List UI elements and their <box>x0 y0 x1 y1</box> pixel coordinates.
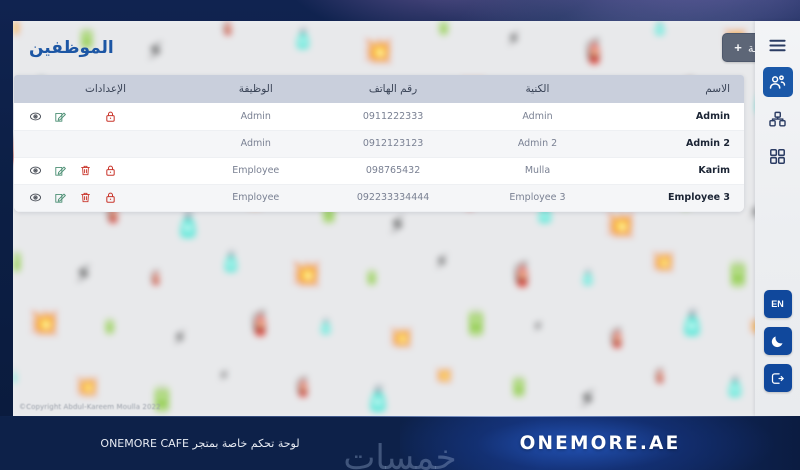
cell-surname: Admin <box>472 103 604 130</box>
pattern-sticker: 💥 <box>291 262 321 286</box>
column-header-phone[interactable]: رقم الهاتف <box>314 75 471 103</box>
pattern-sticker: 💥 <box>75 378 99 397</box>
edit-action-button[interactable] <box>53 109 67 123</box>
pattern-sticker: 🧴 <box>13 369 20 383</box>
dark-mode-toggle-button[interactable] <box>764 327 792 355</box>
table-row[interactable]: AdminAdmin0911222333Admin <box>14 103 744 130</box>
edit-action-button[interactable] <box>53 191 67 205</box>
pattern-sticker: 🧴 <box>677 311 707 335</box>
pattern-sticker: 💥 <box>389 329 413 348</box>
pattern-sticker: 🔋 <box>13 253 27 272</box>
cell-actions <box>14 184 197 211</box>
trash-action-button[interactable] <box>78 164 92 178</box>
pattern-sticker: ⚡ <box>533 320 543 334</box>
cell-phone: 092233334444 <box>314 184 471 211</box>
sidebar-bottom-group: EN <box>764 290 792 416</box>
sidebar-item-products[interactable] <box>763 141 793 171</box>
boxes-icon <box>768 110 787 129</box>
pattern-sticker: 🧴 <box>173 213 203 237</box>
pattern-sticker: 🧯 <box>147 271 164 285</box>
cell-name: Admin <box>603 103 744 130</box>
footer-caption: لوحة تحكم خاصة بمتجر ONEMORE CAFE <box>0 437 400 450</box>
pattern-sticker: ⚡ <box>219 369 229 383</box>
pattern-sticker: 🧴 <box>363 387 393 411</box>
trash-action-button[interactable] <box>78 191 92 205</box>
pattern-sticker: 🧴 <box>723 378 747 397</box>
column-header-actions[interactable]: الإعدادات <box>14 75 197 103</box>
pattern-sticker: ⚡ <box>75 262 92 286</box>
pattern-sticker: 🧯 <box>651 369 668 383</box>
pattern-sticker: 🔋 <box>507 378 531 397</box>
employees-table-card: الاسم الكنية رقم الهاتف الوظيفة الإعدادا… <box>14 75 744 212</box>
pattern-sticker: 🧴 <box>219 253 243 272</box>
language-toggle-button[interactable]: EN <box>764 290 792 318</box>
eye-icon <box>29 191 42 204</box>
pattern-sticker: ⚡ <box>173 329 186 348</box>
pattern-sticker: 🧴 <box>317 320 334 334</box>
cell-job: Employee <box>197 157 314 184</box>
lock-icon <box>104 191 117 204</box>
pattern-sticker: 🧯 <box>507 262 537 286</box>
pattern-sticker: 💥 <box>435 369 452 383</box>
footer-brand: ONEMORE.AE <box>400 433 800 454</box>
pattern-sticker: 🧯 <box>291 378 315 397</box>
page-footer: خمسات ONEMORE.AE لوحة تحكم خاصة بمتجر ON… <box>0 416 800 470</box>
lock-icon <box>104 164 117 177</box>
page-title: الموظفين <box>29 38 114 58</box>
sidebar-item-categories[interactable] <box>763 104 793 134</box>
table-head: الاسم الكنية رقم الهاتف الوظيفة الإعدادا… <box>14 75 744 103</box>
cell-actions <box>14 130 197 157</box>
cell-job: Admin <box>197 130 314 157</box>
edit-icon <box>54 110 67 123</box>
cell-job: Admin <box>197 103 314 130</box>
row-action-group <box>28 164 183 178</box>
pattern-sticker: ⚡ <box>435 253 448 272</box>
language-label: EN <box>771 299 784 309</box>
people-icon <box>768 73 787 92</box>
sidebar-item-employees[interactable] <box>763 67 793 97</box>
cell-actions <box>14 157 197 184</box>
right-sidebar: EN <box>755 21 800 416</box>
pattern-sticker: ⚡ <box>389 213 406 237</box>
eye-action-button[interactable] <box>28 109 42 123</box>
pattern-sticker: 🔋 <box>363 271 380 285</box>
logout-button[interactable] <box>764 364 792 392</box>
edit-icon <box>54 191 67 204</box>
logout-icon <box>770 371 785 386</box>
column-header-name[interactable]: الاسم <box>603 75 744 103</box>
cell-phone: 0911222333 <box>314 103 471 130</box>
lock-action-button[interactable] <box>103 191 117 205</box>
pattern-sticker: 🔋 <box>723 262 753 286</box>
eye-icon <box>29 110 42 123</box>
pattern-sticker: 🧯 <box>605 329 629 348</box>
pattern-sticker: 🔋 <box>101 320 118 334</box>
table-row[interactable]: KarimMulla098765432Employee <box>14 157 744 184</box>
row-action-group <box>28 191 183 205</box>
row-action-group <box>28 109 183 123</box>
lock-action-button[interactable] <box>103 109 117 123</box>
grid-icon <box>768 147 787 166</box>
pattern-sticker: 💥 <box>651 253 675 272</box>
copyright-notice: ©Copyright Abdul-Kareem Moulla 2022 <box>19 403 161 411</box>
desktop-screen: 💥🔋⚡🧯🧴💥🔋⚡🧯🧴💥🧴💥🔋⚡🧯🧴💥🔋⚡🧯🧴🧯🧴💥🔋⚡🧯🧴💥🔋⚡🧯⚡🧯🧴💥🔋⚡🧯… <box>0 0 800 470</box>
cell-name: Karim <box>603 157 744 184</box>
footer-divider <box>0 416 800 417</box>
plus-icon: + <box>734 40 742 55</box>
pattern-sticker: 🧴 <box>579 271 596 285</box>
pattern-sticker: 💥 <box>605 213 635 237</box>
edit-icon <box>54 164 67 177</box>
column-header-job[interactable]: الوظيفة <box>197 75 314 103</box>
table-row[interactable]: Employee 3Employee 3092233334444Employee <box>14 184 744 211</box>
eye-action-button[interactable] <box>28 164 42 178</box>
dashboard-window: 💥🔋⚡🧯🧴💥🔋⚡🧯🧴💥🧴💥🔋⚡🧯🧴💥🔋⚡🧯🧴🧯🧴💥🔋⚡🧯🧴💥🔋⚡🧯⚡🧯🧴💥🔋⚡🧯… <box>13 21 800 416</box>
eye-icon <box>29 164 42 177</box>
table-body: AdminAdmin0911222333AdminAdmin 2Admin 20… <box>14 103 744 211</box>
lock-action-button[interactable] <box>103 164 117 178</box>
cell-actions <box>14 103 197 130</box>
cell-job: Employee <box>197 184 314 211</box>
sidebar-item-menu-toggle[interactable] <box>763 30 793 60</box>
cell-phone: 098765432 <box>314 157 471 184</box>
lock-icon <box>104 110 117 123</box>
pattern-sticker: 🔋 <box>461 311 491 335</box>
cell-surname: Employee 3 <box>472 184 604 211</box>
app-top-bar: إضافة + الموظفين <box>13 21 800 74</box>
trash-icon <box>79 164 92 177</box>
cell-surname: Admin 2 <box>472 130 604 157</box>
action-placeholder <box>78 109 92 123</box>
pattern-sticker: 🧯 <box>245 311 275 335</box>
cell-name: Employee 3 <box>603 184 744 211</box>
cell-surname: Mulla <box>472 157 604 184</box>
employees-table: الاسم الكنية رقم الهاتف الوظيفة الإعدادا… <box>14 75 744 212</box>
cell-name: Admin 2 <box>603 130 744 157</box>
table-row[interactable]: Admin 2Admin 20912123123Admin <box>14 130 744 157</box>
moon-icon <box>770 334 785 349</box>
table-header-row: الاسم الكنية رقم الهاتف الوظيفة الإعدادا… <box>14 75 744 103</box>
eye-action-button[interactable] <box>28 191 42 205</box>
pattern-sticker: ⚡ <box>579 387 596 411</box>
cell-phone: 0912123123 <box>314 130 471 157</box>
column-header-surname[interactable]: الكنية <box>472 75 604 103</box>
pattern-sticker: 💥 <box>29 311 59 335</box>
hamburger-icon <box>768 36 787 55</box>
trash-icon <box>79 191 92 204</box>
edit-action-button[interactable] <box>53 164 67 178</box>
